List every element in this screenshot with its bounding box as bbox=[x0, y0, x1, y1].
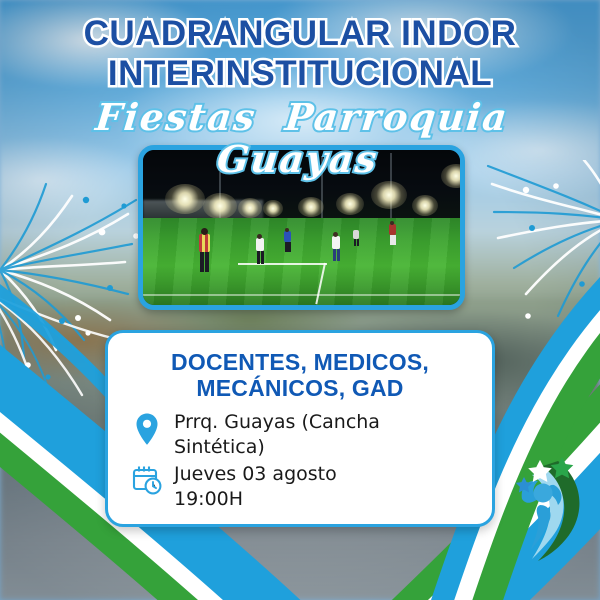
poster-headline: CUADRANGULAR INDOR INTERINSTITUCIONAL bbox=[0, 14, 600, 94]
script-subtitle: Fiestas Parroquia Guayas bbox=[0, 96, 600, 180]
flood-light bbox=[238, 198, 262, 218]
player bbox=[352, 228, 361, 256]
date-line: Jueves 03 agosto bbox=[174, 463, 337, 485]
field-line bbox=[143, 294, 460, 296]
flood-light bbox=[371, 181, 407, 209]
time-line: 19:00H bbox=[174, 488, 243, 510]
player bbox=[282, 228, 293, 265]
calendar-clock-icon bbox=[130, 462, 164, 496]
player-referee bbox=[197, 228, 213, 299]
headline-line-2: INTERINSTITUCIONAL bbox=[0, 54, 600, 94]
datetime-text: Jueves 03 agosto 19:00H bbox=[174, 462, 337, 512]
location-line-2: Sintética) bbox=[174, 436, 265, 458]
card-detail-rows: Prrq. Guayas (Cancha Sintética) bbox=[130, 410, 470, 512]
location-pin-icon bbox=[130, 410, 164, 446]
detail-row-location: Prrq. Guayas (Cancha Sintética) bbox=[130, 410, 470, 460]
poster-canvas: CUADRANGULAR INDOR INTERINSTITUCIONAL Fi… bbox=[0, 0, 600, 600]
grass-surface bbox=[143, 218, 460, 305]
event-info-card: DOCENTES, MEDICOS, MECÁNICOS, GAD Prrq. … bbox=[105, 330, 495, 527]
player bbox=[330, 232, 342, 275]
location-line-1: Prrq. Guayas (Cancha bbox=[174, 411, 380, 433]
card-title-line-2: MECÁNICOS, GAD bbox=[130, 375, 470, 401]
card-title-line-1: DOCENTES, MEDICOS, bbox=[130, 349, 470, 375]
gad-parroquial-guayas-logo bbox=[498, 445, 590, 570]
player bbox=[387, 221, 398, 258]
location-text: Prrq. Guayas (Cancha Sintética) bbox=[174, 410, 380, 460]
headline-line-1: CUADRANGULAR INDOR bbox=[0, 14, 600, 54]
flood-light bbox=[263, 200, 283, 217]
player bbox=[254, 234, 266, 277]
card-title: DOCENTES, MEDICOS, MECÁNICOS, GAD bbox=[130, 349, 470, 401]
flood-light bbox=[298, 197, 324, 217]
detail-row-datetime: Jueves 03 agosto 19:00H bbox=[130, 462, 470, 512]
logo-figure-head bbox=[534, 484, 553, 503]
